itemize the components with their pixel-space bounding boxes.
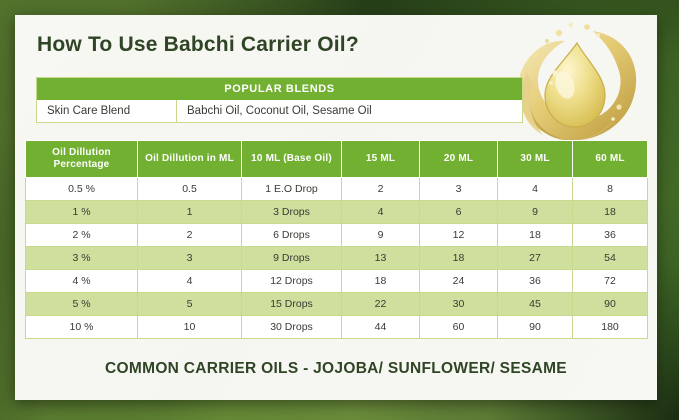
cell: 18	[420, 246, 498, 269]
popular-blends-table: POPULAR BLENDS Skin Care Blend Babchi Oi…	[36, 77, 523, 123]
cell: 4	[498, 177, 573, 200]
cell: 3	[138, 246, 242, 269]
cell: 1	[138, 200, 242, 223]
table-row: 0.5 % 0.5 1 E.O Drop 2 3 4 8	[26, 177, 648, 200]
cell: 8	[573, 177, 648, 200]
cell: 18	[498, 223, 573, 246]
infographic-root: How To Use Babchi Carrier Oil?	[0, 0, 679, 420]
oil-drop-icon	[501, 15, 651, 153]
column-header: 20 ML	[420, 141, 498, 178]
column-header: 10 ML (Base Oil)	[242, 141, 342, 178]
cell: 2	[138, 223, 242, 246]
cell: 13	[342, 246, 420, 269]
cell: 5 %	[26, 292, 138, 315]
cell: 5	[138, 292, 242, 315]
cell: 30 Drops	[242, 315, 342, 338]
cell: 2	[342, 177, 420, 200]
cell: 27	[498, 246, 573, 269]
table-header-row: Oil Dillution Percentage Oil Dillution i…	[26, 141, 648, 178]
cell: 1 E.O Drop	[242, 177, 342, 200]
cell: 18	[342, 269, 420, 292]
cell: 44	[342, 315, 420, 338]
cell: 9	[342, 223, 420, 246]
cell: 36	[573, 223, 648, 246]
cell: 4 %	[26, 269, 138, 292]
cell: 3	[420, 177, 498, 200]
cell: 180	[573, 315, 648, 338]
column-header: 60 ML	[573, 141, 648, 178]
column-header: 15 ML	[342, 141, 420, 178]
table-row: 5 % 5 15 Drops 22 30 45 90	[26, 292, 648, 315]
cell: 30	[420, 292, 498, 315]
cell: 9 Drops	[242, 246, 342, 269]
footer-text: COMMON CARRIER OILS - JOJOBA/ SUNFLOWER/…	[15, 360, 657, 378]
popular-blends-header: POPULAR BLENDS	[37, 78, 522, 100]
table-body: 0.5 % 0.5 1 E.O Drop 2 3 4 8 1 % 1 3 Dro…	[26, 177, 648, 338]
cell: 4	[342, 200, 420, 223]
cell: 3 Drops	[242, 200, 342, 223]
cell: 1 %	[26, 200, 138, 223]
table-row: 1 % 1 3 Drops 4 6 9 18	[26, 200, 648, 223]
cell: 4	[138, 269, 242, 292]
cell: 6 Drops	[242, 223, 342, 246]
column-header: Oil Dillution Percentage	[26, 141, 138, 178]
cell: 10 %	[26, 315, 138, 338]
column-header: 30 ML	[498, 141, 573, 178]
cell: 90	[498, 315, 573, 338]
cell: 3 %	[26, 246, 138, 269]
cell: 24	[420, 269, 498, 292]
table-row: 2 % 2 6 Drops 9 12 18 36	[26, 223, 648, 246]
cell: 54	[573, 246, 648, 269]
cell: 2 %	[26, 223, 138, 246]
cell: 12	[420, 223, 498, 246]
table-row: 3 % 3 9 Drops 13 18 27 54	[26, 246, 648, 269]
cell: 6	[420, 200, 498, 223]
cell: 18	[573, 200, 648, 223]
cell: 60	[420, 315, 498, 338]
cell: 15 Drops	[242, 292, 342, 315]
cell: 12 Drops	[242, 269, 342, 292]
table-row: 4 % 4 12 Drops 18 24 36 72	[26, 269, 648, 292]
cell: 36	[498, 269, 573, 292]
popular-blends-row: Skin Care Blend Babchi Oil, Coconut Oil,…	[37, 100, 522, 122]
dilution-table: Oil Dillution Percentage Oil Dillution i…	[25, 140, 648, 339]
cell: 45	[498, 292, 573, 315]
blend-oils: Babchi Oil, Coconut Oil, Sesame Oil	[177, 100, 522, 122]
page-title: How To Use Babchi Carrier Oil?	[37, 33, 359, 57]
cell: 0.5 %	[26, 177, 138, 200]
cell: 22	[342, 292, 420, 315]
table-row: 10 % 10 30 Drops 44 60 90 180	[26, 315, 648, 338]
cell: 90	[573, 292, 648, 315]
cell: 72	[573, 269, 648, 292]
column-header: Oil Dillution in ML	[138, 141, 242, 178]
blend-name: Skin Care Blend	[37, 100, 177, 122]
content-card: How To Use Babchi Carrier Oil?	[15, 15, 657, 400]
cell: 10	[138, 315, 242, 338]
cell: 0.5	[138, 177, 242, 200]
cell: 9	[498, 200, 573, 223]
